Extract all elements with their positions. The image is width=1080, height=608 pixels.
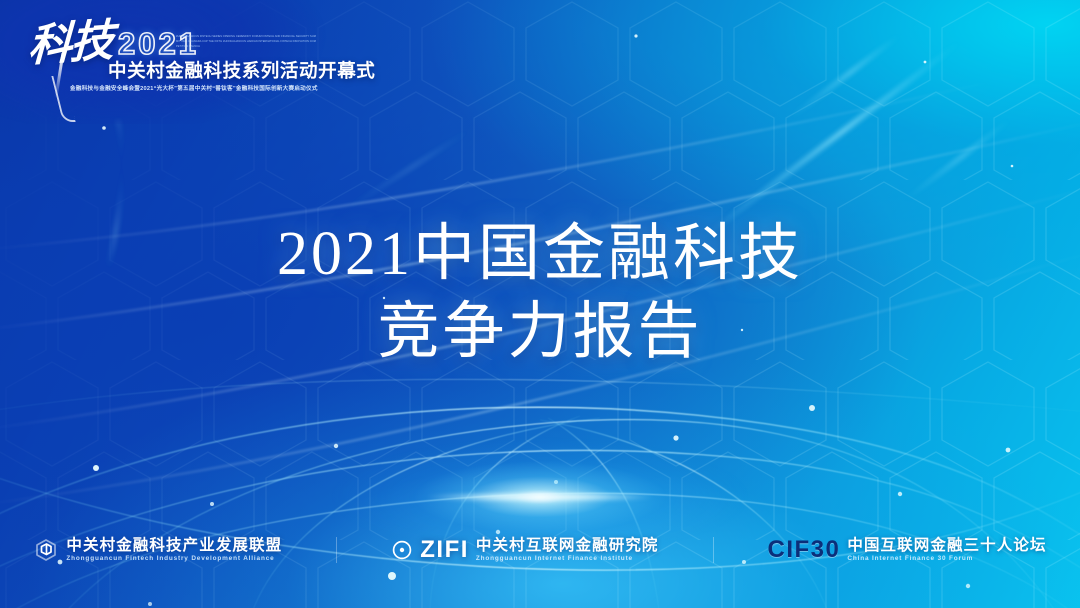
banner-main-line: 中关村金融科技系列活动开幕式 <box>108 57 375 83</box>
poster-title: 2021中国金融科技 竞争力报告 <box>0 216 1080 371</box>
logo-name-cn: 中国互联网金融三十人论坛 <box>847 538 1046 554</box>
calligraphy-logo: 科技 <box>28 22 148 84</box>
logo-zgc-fintech-alliance: 中关村金融科技产业发展联盟 Zhongguancun Fintech Indus… <box>33 537 282 563</box>
sponsor-logo-row: 中关村金融科技产业发展联盟 Zhongguancun Fintech Indus… <box>0 536 1080 564</box>
logo-name-cn: 中关村互联网金融研究院 <box>476 538 659 554</box>
logo-wordmark: CIF30 <box>768 536 841 564</box>
network-globe-graphic <box>0 318 1080 608</box>
logo-name-en: Zhongguancun Fintech Industry Developmen… <box>66 556 282 562</box>
logo-zifi: ZIFI 中关村互联网金融研究院 Zhongguancun Internet F… <box>391 536 658 564</box>
banner-micro-english: ZHONGGUANCUN FINTECH SERIES OPENING CERE… <box>176 34 316 49</box>
title-line-1: 2021中国金融科技 <box>0 216 1080 294</box>
banner-corner-bracket <box>51 76 75 122</box>
event-banner: 科技 2021 ZHONGGUANCUN FINTECH SERIES OPEN… <box>0 0 360 112</box>
poster-canvas: 科技 2021 ZHONGGUANCUN FINTECH SERIES OPEN… <box>0 0 1080 608</box>
logo-name-cn: 中关村金融科技产业发展联盟 <box>66 538 282 554</box>
logo-divider <box>713 537 714 563</box>
logo-name-en: Zhongguancun Internet Finance Institute <box>476 556 659 562</box>
logo-wordmark: ZIFI <box>420 536 469 564</box>
hexagon-pattern-overlay <box>0 0 1080 608</box>
logo-text-block: 中国互联网金融三十人论坛 China Internet Finance 30 F… <box>847 538 1046 563</box>
banner-year: 2021 <box>118 26 199 62</box>
calligraphy-brush-stroke <box>54 52 64 98</box>
light-streak-layer <box>0 0 1080 608</box>
banner-sub-line: 金融科技与金融安全峰会暨2021“光大杯”第五届中关村“番钛客”金融科技国际创新… <box>70 84 318 92</box>
logo-divider <box>336 537 337 563</box>
logo-name-en: China Internet Finance 30 Forum <box>847 556 1046 562</box>
cube-icon <box>33 537 59 563</box>
logo-text-block: 中关村互联网金融研究院 Zhongguancun Internet Financ… <box>476 538 659 563</box>
banner-backdrop <box>0 0 401 124</box>
title-line-2: 竞争力报告 <box>0 294 1080 372</box>
logo-text-block: 中关村金融科技产业发展联盟 Zhongguancun Fintech Indus… <box>66 538 282 563</box>
logo-cif30: CIF30 中国互联网金融三十人论坛 China Internet Financ… <box>768 536 1047 564</box>
circle-node-icon <box>391 539 413 561</box>
calligraphy-text: 科技 <box>27 19 112 69</box>
